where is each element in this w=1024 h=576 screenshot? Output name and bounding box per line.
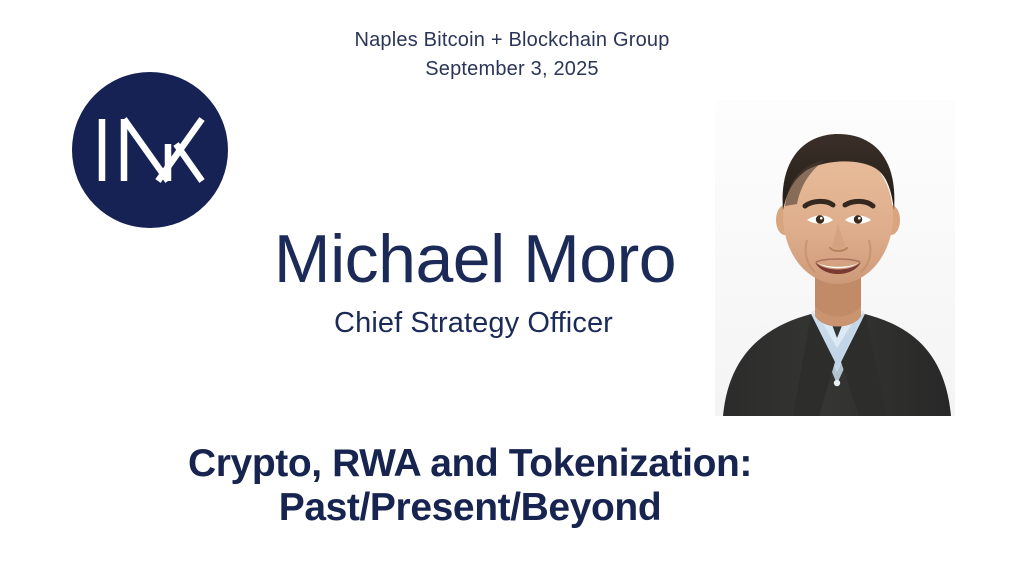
speaker-name: Michael Moro <box>0 222 950 296</box>
event-name: Naples Bitcoin + Blockchain Group <box>0 26 1024 55</box>
presentation-title-slide: Naples Bitcoin + Blockchain Group Septem… <box>0 0 1024 576</box>
talk-title-line-2: Past/Present/Beyond <box>0 486 940 530</box>
inx-logo-icon <box>72 72 228 228</box>
talk-title-line-1: Crypto, RWA and Tokenization: <box>0 442 940 486</box>
speaker-role: Chief Strategy Officer <box>0 305 947 341</box>
inx-logo <box>72 72 228 228</box>
talk-title: Crypto, RWA and Tokenization: Past/Prese… <box>0 442 940 530</box>
